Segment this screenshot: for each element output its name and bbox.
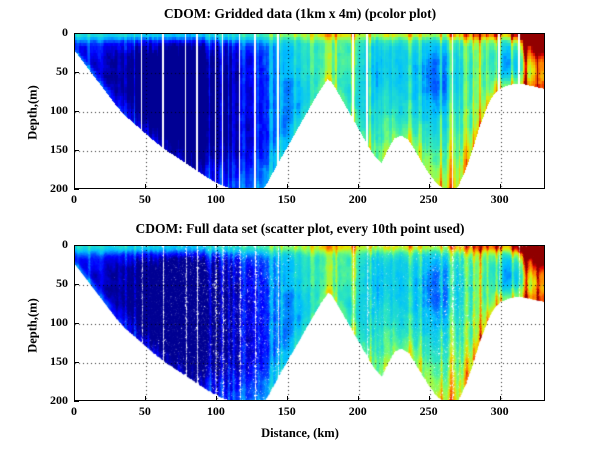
ytick-label: 150 [32,354,68,369]
xtick-label: 250 [409,404,449,419]
xtick-label: 150 [267,192,307,207]
ytick-label: 50 [32,64,68,79]
ytick-label: 100 [32,103,68,118]
xtick-mark [287,184,288,189]
xtick-label: 100 [196,192,236,207]
ytick-mark [74,72,79,73]
ytick-label: 0 [32,25,68,40]
ytick-label: 150 [32,142,68,157]
ytick-mark [74,33,79,34]
ytick-label: 0 [32,237,68,252]
xtick-mark [287,396,288,401]
ytick-mark [74,401,79,402]
xtick-label: 50 [125,192,165,207]
xtick-label: 150 [267,404,307,419]
xtick-label: 250 [409,192,449,207]
xtick-label: 200 [338,404,378,419]
xtick-mark [429,396,430,401]
ytick-mark [74,111,79,112]
xtick-mark [358,184,359,189]
panel-gridded-axes [74,33,545,189]
xtick-mark [500,396,501,401]
xtick-label: 300 [480,404,520,419]
xtick-mark [429,184,430,189]
xtick-mark [216,396,217,401]
ytick-label: 200 [32,181,68,196]
ytick-mark [74,245,79,246]
xtick-mark [358,396,359,401]
figure-xlabel: Distance, (km) [0,426,600,441]
ytick-mark [74,150,79,151]
xtick-mark [145,396,146,401]
xtick-label: 300 [480,192,520,207]
ytick-mark [74,284,79,285]
ytick-label: 50 [32,276,68,291]
panel-scatter-title: CDOM: Full data set (scatter plot, every… [0,221,600,237]
ytick-label: 200 [32,393,68,408]
ytick-mark [74,362,79,363]
xtick-label: 50 [125,404,165,419]
xtick-mark [500,184,501,189]
panel-gridded-title: CDOM: Gridded data (1km x 4m) (pcolor pl… [0,6,600,22]
panel-scatter-axes [74,245,545,401]
figure-canvas: CDOM: Gridded data (1km x 4m) (pcolor pl… [0,0,600,451]
xtick-mark [216,184,217,189]
xtick-label: 100 [196,404,236,419]
ytick-mark [74,189,79,190]
xtick-label: 200 [338,192,378,207]
xtick-mark [145,184,146,189]
panel-gridded: CDOM: Gridded data (1km x 4m) (pcolor pl… [0,0,600,218]
ytick-label: 100 [32,315,68,330]
panel-scatter: CDOM: Full data set (scatter plot, every… [0,218,600,451]
ytick-mark [74,323,79,324]
